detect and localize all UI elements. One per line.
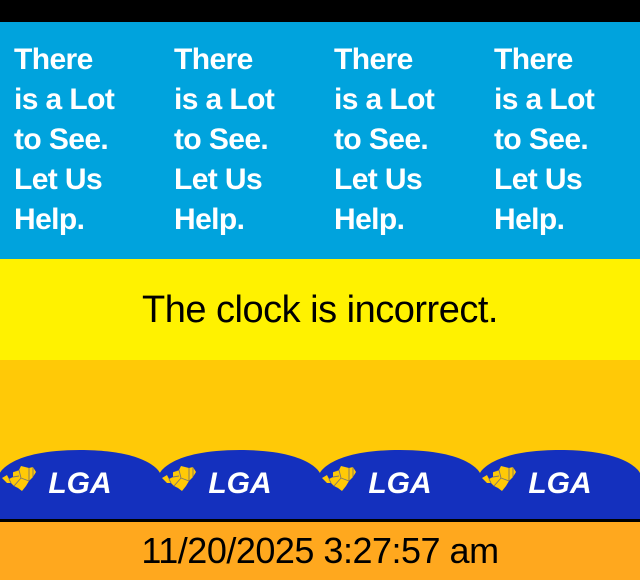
new-york-state-icon xyxy=(480,464,522,494)
lga-logo: LGA xyxy=(320,464,480,504)
new-york-state-icon xyxy=(0,464,42,494)
promo-column: There is a Lot to See. Let Us Help. xyxy=(480,22,640,259)
lga-wordmark: LGA xyxy=(208,469,271,499)
promo-line: to See. xyxy=(334,120,474,160)
display-screen: There is a Lot to See. Let Us Help. Ther… xyxy=(0,0,640,580)
status-bar xyxy=(0,0,640,22)
promo-column: There is a Lot to See. Let Us Help. xyxy=(0,22,160,259)
logo-row: LGA LGA LGA xyxy=(0,360,640,522)
lga-wordmark: LGA xyxy=(48,469,111,499)
promo-line: to See. xyxy=(174,120,314,160)
promo-column: There is a Lot to See. Let Us Help. xyxy=(160,22,320,259)
lga-logo: LGA xyxy=(0,464,160,504)
clock-datetime: 11/20/2025 3:27:57 am xyxy=(141,531,498,571)
new-york-state-icon xyxy=(320,464,362,494)
promo-line: to See. xyxy=(14,120,154,160)
promo-line: There xyxy=(174,40,314,80)
promo-line: is a Lot xyxy=(494,80,634,120)
promo-column: There is a Lot to See. Let Us Help. xyxy=(320,22,480,259)
promo-line: Help. xyxy=(334,200,474,240)
clock-bar: 11/20/2025 3:27:57 am xyxy=(0,522,640,580)
promo-line: There xyxy=(14,40,154,80)
promo-line: Let Us xyxy=(174,160,314,200)
logo-strip: LGA LGA LGA xyxy=(0,360,640,522)
promo-line: Help. xyxy=(494,200,634,240)
alert-message: The clock is incorrect. xyxy=(142,289,498,331)
promo-line: Help. xyxy=(174,200,314,240)
promo-line: Let Us xyxy=(334,160,474,200)
promo-line: There xyxy=(494,40,634,80)
promo-line: to See. xyxy=(494,120,634,160)
lga-wordmark: LGA xyxy=(528,469,591,499)
promo-line: There xyxy=(334,40,474,80)
alert-banner: The clock is incorrect. xyxy=(0,259,640,360)
lga-wordmark: LGA xyxy=(368,469,431,499)
promo-line: Let Us xyxy=(494,160,634,200)
promo-line: is a Lot xyxy=(334,80,474,120)
new-york-state-icon xyxy=(160,464,202,494)
promo-line: is a Lot xyxy=(174,80,314,120)
lga-logo: LGA xyxy=(160,464,320,504)
promo-line: Let Us xyxy=(14,160,154,200)
promo-line: Help. xyxy=(14,200,154,240)
lga-logo: LGA xyxy=(480,464,640,504)
promo-line: is a Lot xyxy=(14,80,154,120)
promo-band: There is a Lot to See. Let Us Help. Ther… xyxy=(0,22,640,259)
